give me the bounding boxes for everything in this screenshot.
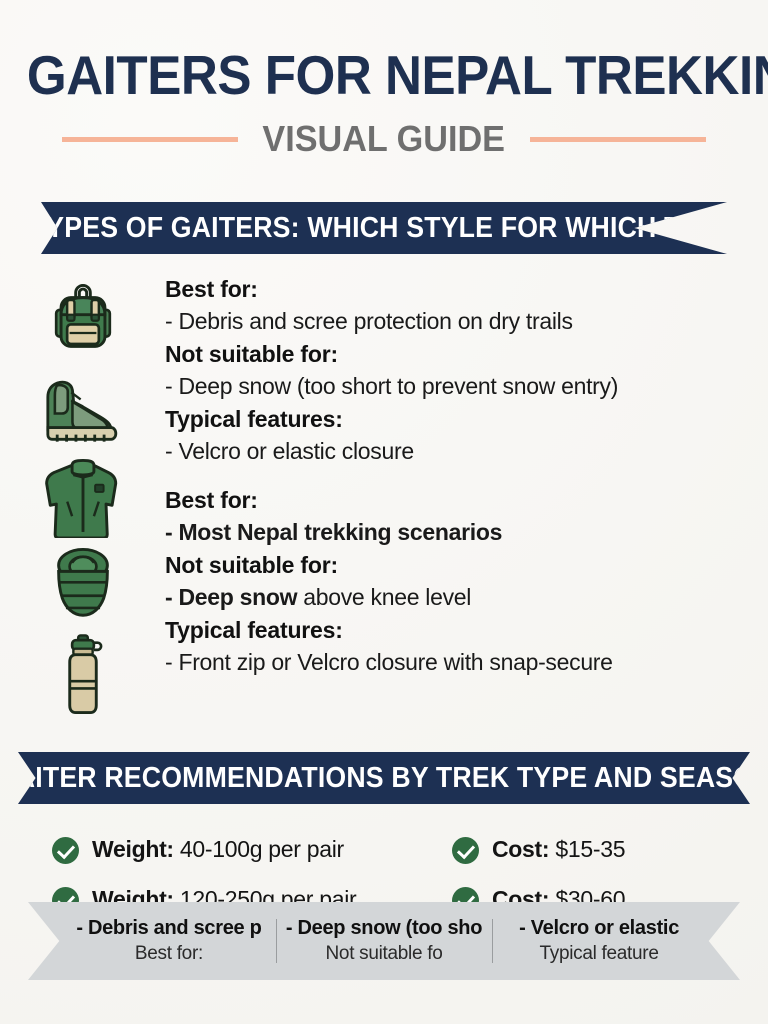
types-content: Best for: - Debris and scree protection … [0,254,768,716]
header: GAITERS FOR NEPAL TREKKING VISUAL GUIDE [0,0,768,160]
spec-text-column: Best for: - Debris and scree protection … [165,274,768,716]
footer-sub-2: Not suitable fo [286,941,482,967]
features-label-1: Typical features: [165,404,738,435]
best-for-label-2: Best for: [165,485,738,516]
icon-column [0,274,165,716]
sleeping-bag-icon [29,544,137,628]
recommendations-grid: Weight: 40-100g per pair Cost: $15-35 We… [0,804,768,914]
check-label-1: Weight: [92,836,174,862]
best-for-label-1: Best for: [165,274,738,305]
features-label-2: Typical features: [165,615,738,646]
footer-column-2: - Deep snow (too sho Not suitable fo [276,915,492,967]
footer-column-1: - Debris and scree p Best for: [62,915,276,967]
banner-recommendations: GAITER RECOMMENDATIONS BY TREK TYPE AND … [18,752,750,804]
jacket-icon [29,456,137,540]
banner-types-label: TYPES OF GAITERS: WHICH STYLE FOR WHICH … [30,212,738,245]
backpack-icon [29,280,137,364]
not-suitable-value-2: - Deep snow above knee level [165,581,738,613]
check-label-2: Cost: [492,836,549,862]
spec-block-2: Best for: - Most Nepal trekking scenario… [165,485,738,678]
spec-block-1: Best for: - Debris and scree protection … [165,274,738,467]
footer-head-1: - Debris and scree p [72,915,266,941]
subtitle-rule-left [62,137,238,142]
best-for-value-1: - Debris and scree protection on dry tra… [165,305,738,337]
banner-recommendations-label: GAITER RECOMMENDATIONS BY TREK TYPE AND … [0,762,768,795]
infographic-page: GAITERS FOR NEPAL TREKKING VISUAL GUIDE … [0,0,768,1024]
footer-sub-1: Best for: [72,941,266,967]
list-item: Weight: 40-100g per pair [52,834,452,864]
not-suitable-value-2-rest: above knee level [297,584,471,610]
features-value-2: - Front zip or Velcro closure with snap-… [165,646,738,678]
footer-column-3: - Velcro or elastic Typical feature [492,915,706,967]
footer-head-2: - Deep snow (too sho [286,915,482,941]
not-suitable-value-1: - Deep snow (too short to prevent snow e… [165,370,738,402]
page-title: GAITERS FOR NEPAL TREKKING [27,46,741,104]
best-for-value-2: - Most Nepal trekking scenarios [165,516,738,548]
footer-sub-3: Typical feature [502,941,696,967]
check-circle-icon [452,837,479,864]
check-circle-icon [52,837,79,864]
not-suitable-label-1: Not suitable for: [165,339,738,370]
not-suitable-label-2: Not suitable for: [165,550,738,581]
hiking-boot-icon [29,368,137,452]
subtitle-rule-right [530,137,706,142]
check-text: Weight: 40-100g per pair [92,834,344,864]
subtitle-row: VISUAL GUIDE [0,118,768,160]
water-bottle-icon [29,632,137,716]
features-value-1: - Velcro or elastic closure [165,435,738,467]
list-item: Cost: $15-35 [452,834,728,864]
check-value-2: $15-35 [549,836,625,862]
footer-head-3: - Velcro or elastic [502,915,696,941]
footer-ribbon: - Debris and scree p Best for: - Deep sn… [28,902,740,980]
not-suitable-value-2-bold: - Deep snow [165,584,297,610]
banner-types-of-gaiters: TYPES OF GAITERS: WHICH STYLE FOR WHICH … [41,202,727,254]
page-subtitle: VISUAL GUIDE [263,118,506,160]
check-text: Cost: $15-35 [492,834,625,864]
check-value-1: 40-100g per pair [174,836,344,862]
